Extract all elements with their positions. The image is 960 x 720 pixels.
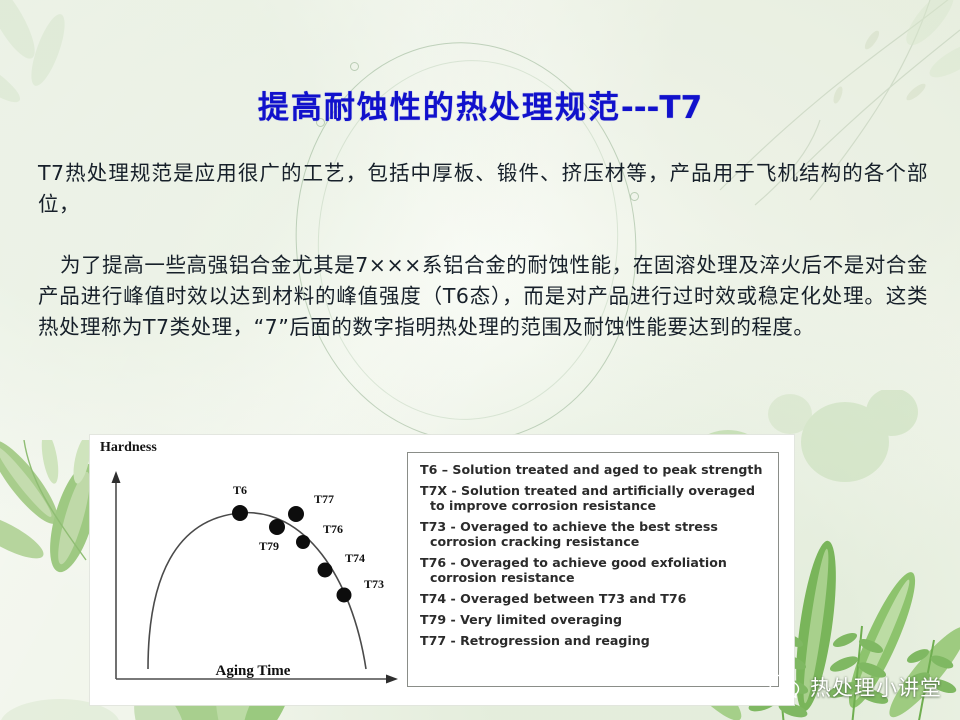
- page-title: 提高耐蚀性的热处理规范---T7: [0, 82, 960, 127]
- legend-item-t77: T77 - Retrogression and reaging: [420, 633, 768, 648]
- page-title-main: 提高耐蚀性的热处理规范: [258, 90, 621, 126]
- chart-svg: T6 T79 T77 T76 T74 T73 Aging Time: [90, 457, 410, 697]
- point-t77: [288, 506, 304, 522]
- hardness-curve: [148, 513, 366, 669]
- point-label-t77: T77: [314, 492, 334, 506]
- legend-item-t73: T73 - Overaged to achieve the best stres…: [420, 519, 768, 549]
- chart-points: [232, 505, 352, 603]
- point-t79: [269, 519, 285, 535]
- point-t6: [232, 505, 248, 521]
- legend-item-t74: T74 - Overaged between T73 and T76: [420, 591, 768, 606]
- figure-panel: Hardness: [90, 435, 794, 705]
- y-axis-arrow: [112, 471, 121, 483]
- legend-item-t6: T6 – Solution treated and aged to peak s…: [420, 462, 768, 477]
- aging-curve-chart: Hardness: [90, 435, 410, 705]
- legend-item-t76: T76 - Overaged to achieve good exfoliati…: [420, 555, 768, 585]
- point-t76: [296, 535, 310, 549]
- point-label-t73: T73: [364, 577, 384, 591]
- point-label-t74: T74: [345, 551, 365, 565]
- chart-x-axis-title: Aging Time: [216, 663, 291, 679]
- chart-axes: [116, 479, 390, 679]
- paragraph-detail: 为了提高一些高强铝合金尤其是7×××系铝合金的耐蚀性能，在固溶处理及淬火后不是对…: [38, 250, 928, 343]
- stem-decoration-top-right: [660, 0, 960, 260]
- legend-item-t79: T79 - Very limited overaging: [420, 612, 768, 627]
- legend-item-t7x: T7X - Solution treated and artificially …: [420, 483, 768, 513]
- slide-canvas: 提高耐蚀性的热处理规范---T7 T7热处理规范是应用很广的工艺，包括中厚板、锻…: [0, 0, 960, 720]
- page-title-suffix: ---T7: [621, 90, 702, 126]
- paragraph-intro: T7热处理规范是应用很广的工艺，包括中厚板、锻件、挤压材等，产品用于飞机结构的各…: [38, 158, 928, 220]
- point-t73: [337, 588, 352, 603]
- chart-y-axis-title: Hardness: [100, 440, 157, 456]
- point-t74: [318, 563, 333, 578]
- x-axis-arrow: [386, 675, 398, 684]
- point-label-t76: T76: [323, 522, 343, 536]
- ring-dot-top: [350, 62, 359, 71]
- point-label-t79: T79: [259, 539, 279, 553]
- legend-box: T6 – Solution treated and aged to peak s…: [407, 452, 779, 687]
- point-label-t6: T6: [233, 483, 247, 497]
- watermark-text: 热处理小讲堂: [810, 672, 942, 702]
